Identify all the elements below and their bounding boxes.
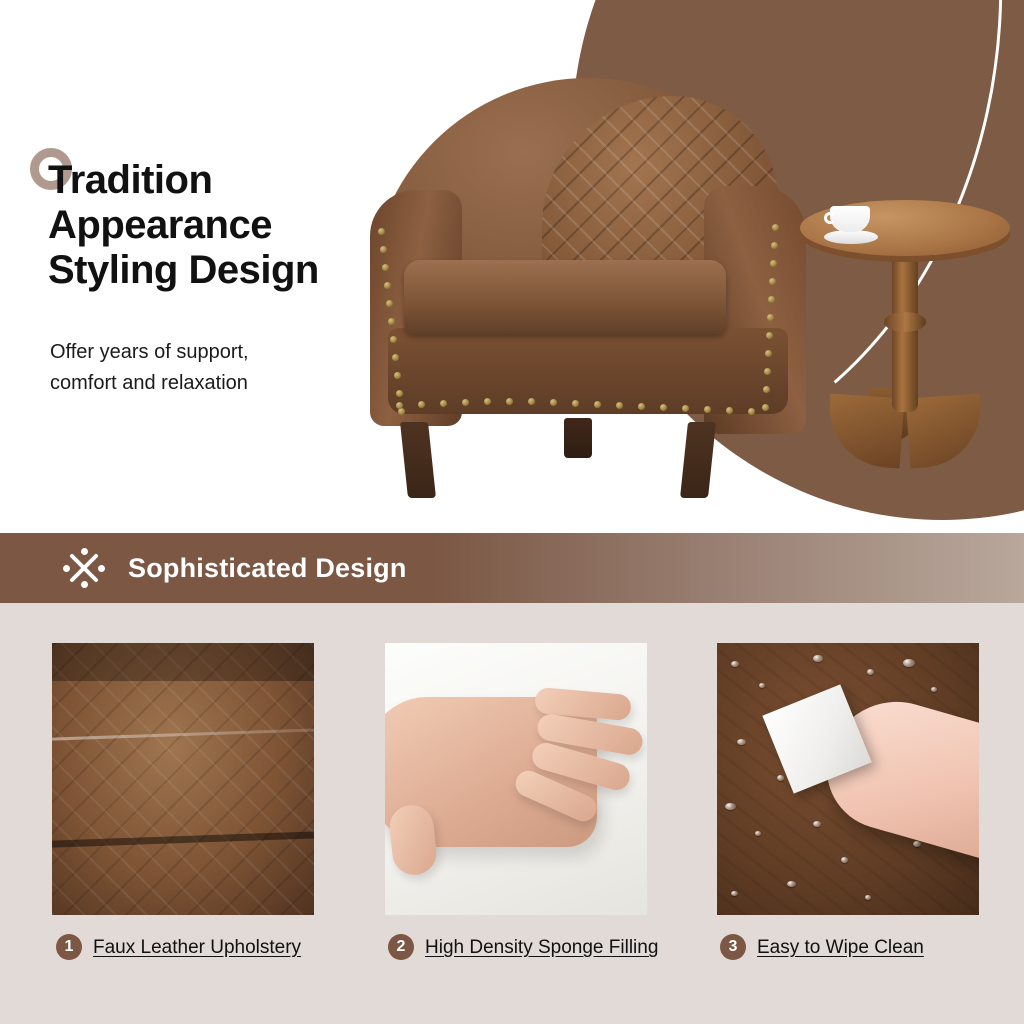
- feature-image-3: [717, 643, 979, 915]
- feature-caption-text: High Density Sponge Filling: [425, 933, 658, 962]
- feature-caption-3: 3 Easy to Wipe Clean: [720, 933, 1020, 962]
- feature-number-badge: 3: [720, 934, 746, 960]
- table-pedestal: [892, 252, 918, 412]
- features-section: 1 Faux Leather Upholstery 2 High Density…: [0, 603, 1024, 1024]
- banner-title: Sophisticated Design: [128, 553, 407, 584]
- section-banner: Sophisticated Design: [0, 533, 1024, 603]
- foam-press-image: [385, 643, 647, 915]
- hero-section: TraditionAppearanceStyling Design Offer …: [0, 0, 1024, 533]
- cup-body: [830, 206, 870, 232]
- chair-seat-cushion: [404, 260, 726, 334]
- feature-image-2: [385, 643, 647, 915]
- chair-product-image: [352, 78, 824, 498]
- teacup-icon: [824, 206, 878, 244]
- chair-leg: [400, 422, 436, 498]
- feature-caption-2: 2 High Density Sponge Filling: [388, 933, 688, 962]
- cup-handle: [824, 212, 836, 224]
- feature-caption-text: Easy to Wipe Clean: [757, 933, 924, 962]
- leather-seam: [52, 831, 314, 848]
- chair-leg: [680, 422, 716, 498]
- sparkle-x-icon: [62, 546, 106, 590]
- leather-seam: [52, 728, 314, 741]
- feature-number-badge: 2: [388, 934, 414, 960]
- feature-caption-1: 1 Faux Leather Upholstery: [56, 933, 356, 962]
- leather-cushion-closeup-image: [52, 643, 314, 915]
- feature-caption-text: Faux Leather Upholstery: [93, 933, 301, 962]
- chair-base: [388, 328, 788, 414]
- table-pedestal-knob: [884, 312, 926, 332]
- feature-number-badge: 1: [56, 934, 82, 960]
- saucer: [824, 230, 878, 244]
- page-subtitle: Offer years of support,comfort and relax…: [50, 337, 380, 399]
- feature-image-1: [52, 643, 314, 915]
- chair-leg: [564, 418, 592, 458]
- wipe-clean-image: [717, 643, 979, 915]
- side-table-image: [800, 200, 1010, 490]
